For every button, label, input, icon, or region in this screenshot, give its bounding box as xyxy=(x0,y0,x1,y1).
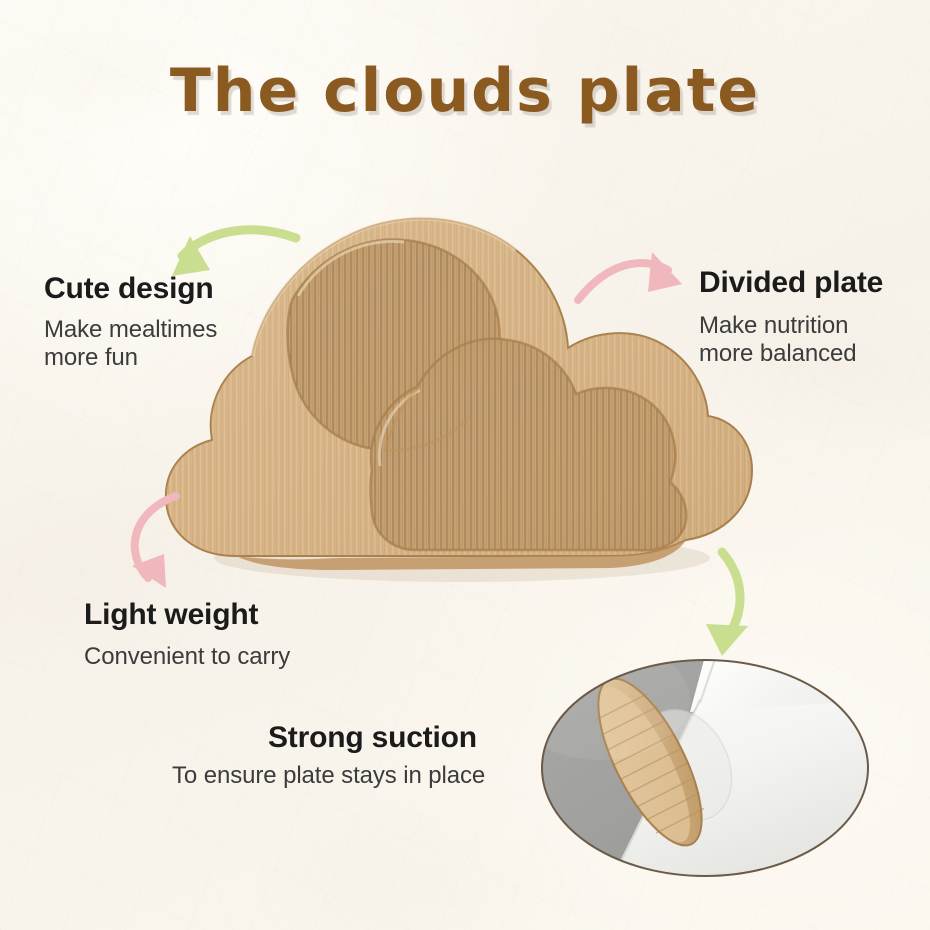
curved-arrow-pink-right-icon xyxy=(578,252,682,300)
curved-arrow-green-left-icon xyxy=(172,230,296,276)
annotation-arrows xyxy=(0,0,930,930)
product-infographic-poster: The clouds plate Cute design Make mealti… xyxy=(0,0,930,930)
curved-arrow-pink-down-left-icon xyxy=(132,496,176,588)
curved-arrow-green-down-icon xyxy=(706,552,748,656)
